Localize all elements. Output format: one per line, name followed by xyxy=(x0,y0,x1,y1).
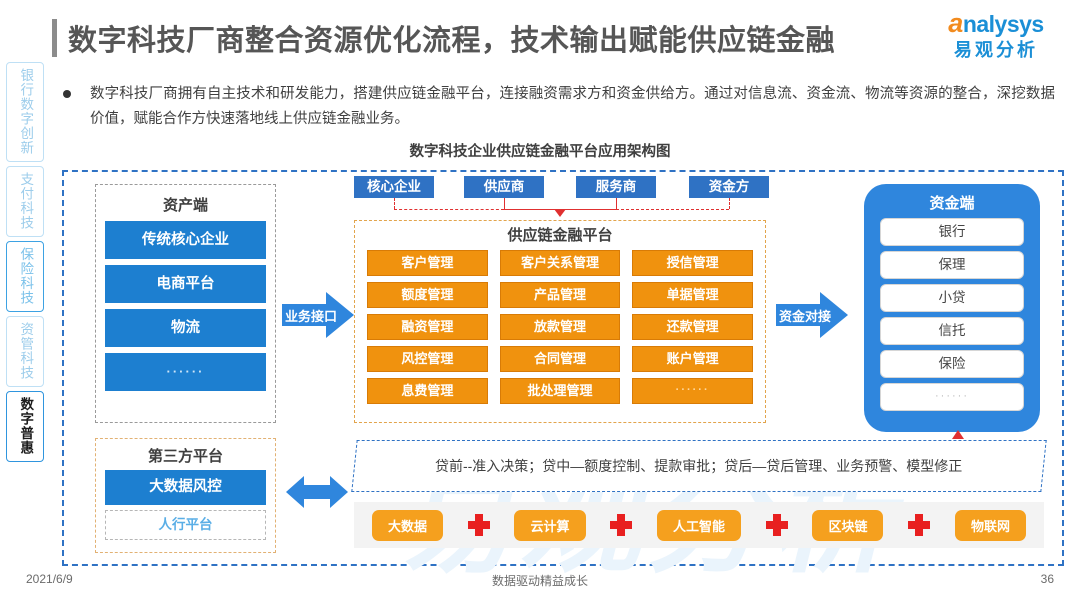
connector-arrow-down-icon xyxy=(554,209,566,217)
plus-icon xyxy=(766,514,788,536)
fund-item-microloan: 小贷 xyxy=(880,284,1024,312)
module-repayment-mgmt: 还款管理 xyxy=(632,314,753,340)
plus-icon xyxy=(468,514,490,536)
module-contract-mgmt: 合同管理 xyxy=(500,346,621,372)
tech-chip-bigdata: 大数据 xyxy=(372,510,443,541)
sidebar-item-insurance[interactable]: 保险科技 xyxy=(6,241,44,312)
page-title-row: 数字科技厂商整合资源优化流程，技术输出赋能供应链金融 xyxy=(52,14,932,62)
sidebar-item-inclusive-finance[interactable]: 数字普惠 xyxy=(6,391,44,462)
connector-line-right xyxy=(616,209,729,210)
supply-chain-finance-platform: 供应链金融平台 客户管理 客户关系管理 授信管理 额度管理 产品管理 单据管理 … xyxy=(354,220,766,423)
connector-line-left xyxy=(394,209,504,210)
platform-title: 供应链金融平台 xyxy=(355,224,765,245)
module-disbursement-mgmt: 放款管理 xyxy=(500,314,621,340)
slide-root: 数字科技厂商整合资源优化流程，技术输出赋能供应链金融 analysys 易观分析… xyxy=(0,0,1080,608)
fund-item-trust: 信托 xyxy=(880,317,1024,345)
third-party-bigdata-riskcontrol: 大数据风控 xyxy=(105,470,266,505)
sidebar-item-label: 数字普惠 xyxy=(17,397,34,455)
fund-connection-arrow: 资金对接 xyxy=(776,292,848,338)
architecture-diagram: 易观分析 核心企业 供应商 服务商 资金方 资产端 传统核心企业 电商平台 物流… xyxy=(62,170,1064,566)
credit-lifecycle-text: 贷前--准入决策；贷中—额度控制、提款审批；贷后—贷后管理、业务预警、模型修正 xyxy=(435,455,962,478)
analysys-logo: analysys 易观分析 xyxy=(926,10,1066,59)
bidirectional-arrow xyxy=(286,472,348,517)
bullet-dot-icon xyxy=(63,90,71,98)
tech-chip-cloud: 云计算 xyxy=(514,510,585,541)
tech-chip-blockchain: 区块链 xyxy=(812,510,883,541)
footer-slogan: 数据驱动精益成长 xyxy=(0,572,1080,589)
platform-module-grid: 客户管理 客户关系管理 授信管理 额度管理 产品管理 单据管理 融资管理 放款管… xyxy=(355,250,765,404)
fund-side-panel: 资金端 银行 保理 小贷 信托 保险 ······ xyxy=(864,184,1040,432)
chart-caption: 数字科技企业供应链金融平台应用架构图 xyxy=(0,140,1080,161)
fund-item-more: ······ xyxy=(880,383,1024,411)
page-title: 数字科技厂商整合资源优化流程，技术输出赋能供应链金融 xyxy=(68,17,835,59)
asset-item-ecommerce: 电商平台 xyxy=(105,265,266,303)
fund-item-insurance: 保险 xyxy=(880,350,1024,378)
asset-side-panel: 资产端 传统核心企业 电商平台 物流 ······ xyxy=(95,184,276,423)
module-riskcontrol-mgmt: 风控管理 xyxy=(367,346,488,372)
bullet-text: 数字科技厂商拥有自主技术和研发能力，搭建供应链金融平台，连接融资需求方和资金供给… xyxy=(90,82,1055,132)
connector-stub-core xyxy=(394,198,395,209)
module-fee-mgmt: 息费管理 xyxy=(367,378,488,404)
role-chip-funder: 资金方 xyxy=(689,176,769,198)
sidebar-item-label: 银行数字创新 xyxy=(17,68,34,155)
fund-panel-arrow-up-icon xyxy=(952,430,964,439)
module-credit-mgmt: 授信管理 xyxy=(632,250,753,276)
role-chip-service-provider: 服务商 xyxy=(576,176,656,198)
role-chip-label: 服务商 xyxy=(596,179,637,194)
asset-panel-title: 资产端 xyxy=(105,191,266,221)
module-batch-mgmt: 批处理管理 xyxy=(500,378,621,404)
credit-lifecycle-banner: 贷前--准入决策；贷中—额度控制、提款审批；贷后—贷后管理、业务预警、模型修正 xyxy=(351,440,1046,492)
role-chip-core-enterprise: 核心企业 xyxy=(354,176,434,198)
technology-stack-strip: 大数据 云计算 人工智能 区块链 物联网 xyxy=(354,502,1044,548)
fund-item-bank: 银行 xyxy=(880,218,1024,246)
role-chip-label: 资金方 xyxy=(709,179,750,194)
role-chip-label: 供应商 xyxy=(484,179,525,194)
business-interface-label: 业务接口 xyxy=(282,292,354,338)
sidebar-item-label: 资管科技 xyxy=(17,322,34,380)
bullet-paragraph: 数字科技厂商拥有自主技术和研发能力，搭建供应链金融平台，连接融资需求方和资金供给… xyxy=(63,82,1063,132)
asset-item-logistics: 物流 xyxy=(105,309,266,347)
slide-footer: 2021/6/9 数据驱动精益成长 36 xyxy=(0,572,1080,602)
sidebar-item-payment[interactable]: 支付科技 xyxy=(6,166,44,237)
logo-a-icon: a xyxy=(948,8,963,38)
role-chip-label: 核心企业 xyxy=(367,179,421,194)
sidebar-item-assetmgmt[interactable]: 资管科技 xyxy=(6,316,44,387)
module-customer-mgmt: 客户管理 xyxy=(367,250,488,276)
module-document-mgmt: 单据管理 xyxy=(632,282,753,308)
fund-connection-label: 资金对接 xyxy=(776,292,848,338)
module-account-mgmt: 账户管理 xyxy=(632,346,753,372)
asset-item-more: ······ xyxy=(105,353,266,391)
business-interface-arrow: 业务接口 xyxy=(282,292,354,338)
module-crm: 客户关系管理 xyxy=(500,250,621,276)
module-more: ······ xyxy=(632,378,753,404)
sidebar-item-label: 保险科技 xyxy=(17,247,34,305)
module-financing-mgmt: 融资管理 xyxy=(367,314,488,340)
arrow-left-right-icon xyxy=(286,472,348,512)
fund-panel-title: 资金端 xyxy=(880,190,1024,218)
logo-chinese-text: 易观分析 xyxy=(926,41,1066,59)
sidebar-item-bank[interactable]: 银行数字创新 xyxy=(6,62,44,162)
connector-stub-service xyxy=(616,198,617,209)
asset-item-core-enterprise: 传统核心企业 xyxy=(105,221,266,259)
tech-chip-ai: 人工智能 xyxy=(657,510,741,541)
logo-word-text: nalysys xyxy=(963,11,1044,37)
footer-page-number: 36 xyxy=(1041,572,1054,586)
logo-wordmark: analysys xyxy=(926,10,1066,37)
tech-chip-iot: 物联网 xyxy=(955,510,1026,541)
fund-item-factoring: 保理 xyxy=(880,251,1024,279)
plus-icon xyxy=(610,514,632,536)
connector-stub-funder xyxy=(729,198,730,209)
connector-stub-supplier xyxy=(504,198,505,209)
vertical-tab-list: 银行数字创新 支付科技 保险科技 资管科技 数字普惠 xyxy=(6,62,48,466)
third-party-pboc-platform: 人行平台 xyxy=(105,510,266,540)
role-chip-supplier: 供应商 xyxy=(464,176,544,198)
third-party-panel: 第三方平台 大数据风控 人行平台 xyxy=(95,438,276,553)
plus-icon xyxy=(908,514,930,536)
third-party-title: 第三方平台 xyxy=(105,444,266,470)
module-quota-mgmt: 额度管理 xyxy=(367,282,488,308)
module-product-mgmt: 产品管理 xyxy=(500,282,621,308)
title-accent-bar xyxy=(52,19,57,57)
sidebar-item-label: 支付科技 xyxy=(17,172,34,230)
